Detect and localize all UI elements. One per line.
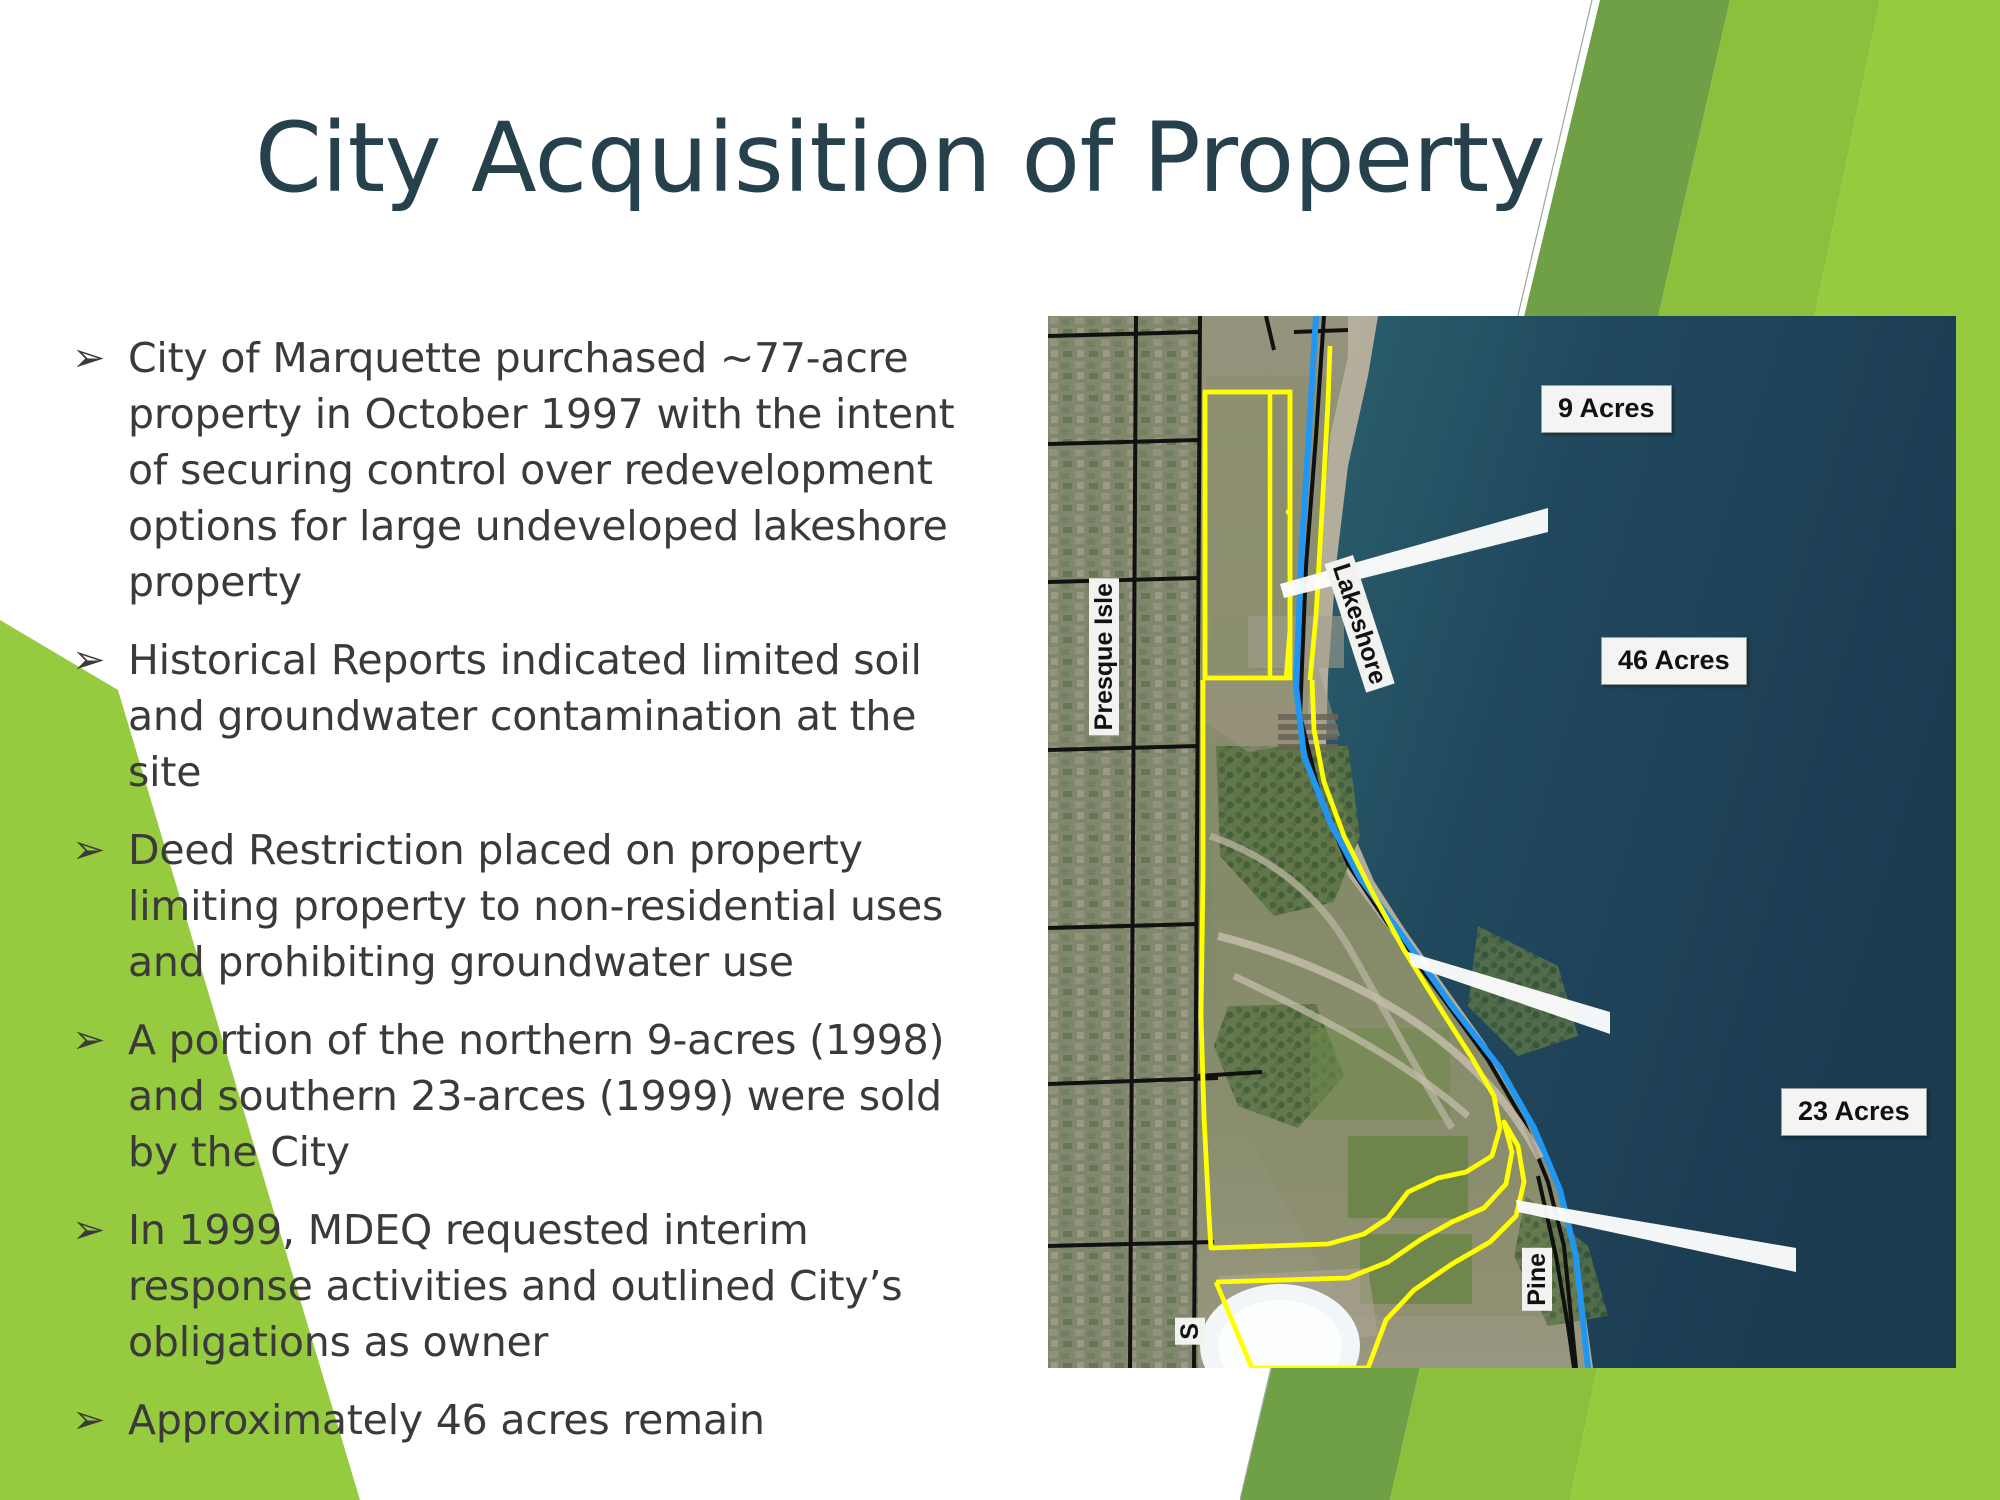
list-item-text: City of Marquette purchased ~77-acre pro…	[128, 330, 992, 610]
arrow-bullet-icon: ➢	[62, 1202, 128, 1258]
slide-canvas: City Acquisition of Property ➢ City of M…	[0, 0, 2000, 1500]
list-item-text: Historical Reports indicated limited soi…	[128, 632, 992, 800]
page-title: City Acquisition of Property	[0, 108, 1800, 209]
arrow-bullet-icon: ➢	[62, 632, 128, 688]
list-item: ➢ Approximately 46 acres remain	[62, 1392, 992, 1448]
arrow-bullet-icon: ➢	[62, 1012, 128, 1068]
list-item-text: In 1999, MDEQ requested interim response…	[128, 1202, 992, 1370]
list-item: ➢ In 1999, MDEQ requested interim respon…	[62, 1202, 992, 1370]
map-street-label-presque-isle: Presque Isle	[1089, 578, 1119, 735]
map-callout-9-acres: 9 Acres	[1541, 385, 1672, 433]
list-item-text: Deed Restriction placed on property limi…	[128, 822, 992, 990]
list-item-text: A portion of the northern 9-acres (1998)…	[128, 1012, 992, 1180]
map-callout-46-acres: 46 Acres	[1601, 637, 1747, 685]
map-street-label-pine: Pine	[1522, 1248, 1552, 1311]
aerial-map-image	[1048, 316, 1956, 1368]
map-callout-23-acres: 23 Acres	[1781, 1088, 1927, 1136]
list-item: ➢ Deed Restriction placed on property li…	[62, 822, 992, 990]
list-item: ➢ A portion of the northern 9-acres (199…	[62, 1012, 992, 1180]
map-graphic	[1048, 316, 1956, 1368]
list-item: ➢ City of Marquette purchased ~77-acre p…	[62, 330, 992, 610]
list-item-text: Approximately 46 acres remain	[128, 1392, 992, 1448]
map-street-label-s: S	[1175, 1318, 1205, 1345]
bullet-list: ➢ City of Marquette purchased ~77-acre p…	[62, 330, 992, 1470]
arrow-bullet-icon: ➢	[62, 822, 128, 878]
arrow-bullet-icon: ➢	[62, 1392, 128, 1448]
arrow-bullet-icon: ➢	[62, 330, 128, 386]
list-item: ➢ Historical Reports indicated limited s…	[62, 632, 992, 800]
